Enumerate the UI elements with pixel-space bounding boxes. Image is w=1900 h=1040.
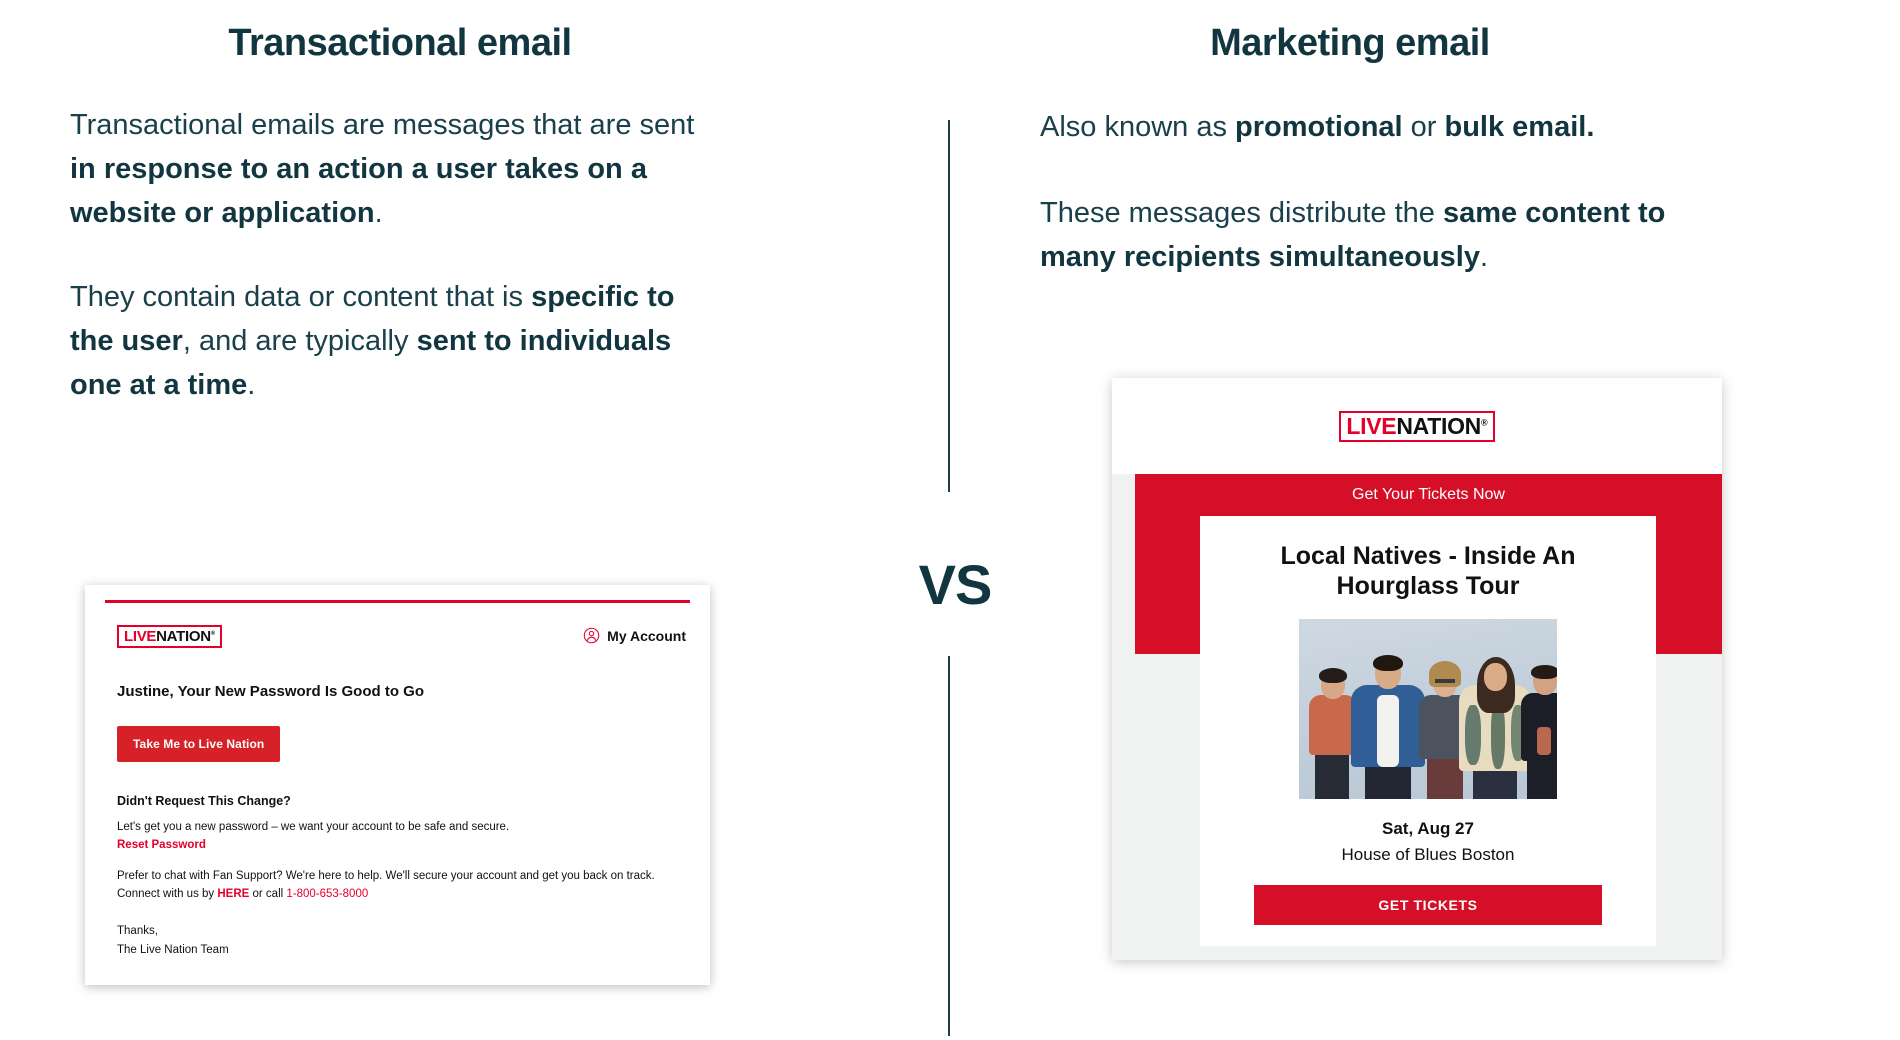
band-member-2: [1351, 647, 1425, 799]
event-title: Local Natives - Inside An Hourglass Tour: [1224, 542, 1632, 601]
left-p2-text-1: They contain data or content that is: [70, 281, 531, 313]
right-paragraph-2: These messages distribute the same conte…: [1040, 191, 1720, 279]
band-photo: [1299, 619, 1557, 799]
banner-text: Get Your Tickets Now: [1135, 486, 1722, 504]
take-me-to-live-nation-button[interactable]: Take Me to Live Nation: [117, 726, 280, 762]
email-top-rule: [105, 600, 690, 603]
person-circle-icon: [583, 627, 600, 644]
marketing-email-column: Marketing email Also known as promotiona…: [1040, 0, 1860, 279]
event-date: Sat, Aug 27: [1200, 819, 1656, 839]
my-account-label: My Account: [607, 628, 686, 644]
member-3-glasses: [1435, 679, 1455, 683]
reset-password-link[interactable]: Reset Password: [117, 839, 677, 851]
member-2-shirt: [1377, 695, 1399, 767]
member-5-legs: [1527, 755, 1557, 799]
vertical-divider-bottom: [948, 656, 950, 1036]
left-p1-bold-1: in response to an action a user takes on…: [70, 153, 647, 229]
marketing-email-header: LIVENATION®: [1112, 378, 1722, 474]
left-p1-text-1: Transactional emails are messages that a…: [70, 109, 694, 141]
vs-label: VS: [900, 552, 1010, 617]
member-3-hair: [1429, 661, 1461, 687]
logo-nation-text: NATION: [1396, 413, 1481, 439]
marketing-email-preview: LIVENATION® Get Your Tickets Now Local N…: [1112, 378, 1722, 960]
left-paragraph-1: Transactional emails are messages that a…: [70, 103, 710, 235]
right-p2-text-1: These messages distribute the: [1040, 197, 1443, 229]
signoff-line-1: Thanks,: [117, 925, 158, 937]
reset-instruction-text: Let's get you a new password – we want y…: [117, 818, 677, 837]
event-venue: House of Blues Boston: [1200, 845, 1656, 865]
member-2-hair: [1373, 655, 1403, 671]
right-paragraph-1: Also known as promotional or bulk email.: [1040, 105, 1840, 149]
signoff-line-2: The Live Nation Team: [117, 944, 229, 956]
member-5-hair: [1531, 665, 1557, 679]
support-phone-number[interactable]: 1-800-653-8000: [286, 888, 368, 900]
left-paragraph-2: They contain data or content that is spe…: [70, 275, 720, 407]
email-subject-line: Justine, Your New Password Is Good to Go: [117, 683, 677, 700]
my-account-link[interactable]: My Account: [583, 627, 686, 644]
right-p1-bold-2: bulk email.: [1445, 111, 1595, 143]
support-line-2-pre: Connect with us by: [117, 888, 217, 900]
left-p2-text-2: , and are typically: [183, 325, 417, 357]
get-tickets-button[interactable]: GET TICKETS: [1254, 885, 1602, 925]
member-5-shirt-inner: [1537, 727, 1551, 755]
vertical-divider-top: [948, 120, 950, 492]
fan-support-text: Prefer to chat with Fan Support? We're h…: [117, 867, 677, 904]
marketing-content-panel: Local Natives - Inside An Hourglass Tour: [1200, 516, 1656, 946]
right-column-heading: Marketing email: [1040, 22, 1660, 65]
right-p1-text-1: Also known as: [1040, 111, 1235, 143]
left-column-heading: Transactional email: [70, 22, 730, 65]
transactional-email-preview: LIVENATION® My Account Justine, Your New…: [85, 585, 710, 985]
band-member-5: [1521, 663, 1557, 799]
live-nation-logo: LIVENATION®: [1339, 411, 1494, 442]
member-1-torso: [1309, 695, 1357, 755]
right-p1-bold-1: promotional: [1235, 111, 1403, 143]
support-line-1: Prefer to chat with Fan Support? We're h…: [117, 870, 655, 882]
right-p2-text-2: .: [1480, 241, 1488, 273]
here-link[interactable]: HERE: [217, 888, 249, 900]
logo-live-text: LIVE: [124, 628, 156, 645]
support-line-2-mid: or call: [249, 888, 286, 900]
logo-nation-text: NATION: [156, 628, 211, 645]
member-3-legs: [1427, 753, 1463, 799]
transactional-email-column: Transactional email Transactional emails…: [70, 0, 770, 407]
left-p1-text-2: .: [375, 197, 383, 229]
member-4-pattern-1: [1465, 705, 1481, 765]
logo-trademark: ®: [1481, 417, 1488, 427]
member-1-hair: [1319, 668, 1347, 683]
logo-live-text: LIVE: [1346, 413, 1396, 439]
email-body: Justine, Your New Password Is Good to Go…: [117, 683, 677, 959]
live-nation-logo: LIVENATION®: [117, 625, 222, 648]
right-p1-text-2: or: [1403, 111, 1445, 143]
email-signoff: Thanks, The Live Nation Team: [117, 922, 677, 959]
logo-trademark: ®: [211, 631, 215, 637]
left-p2-text-3: .: [247, 369, 255, 401]
email-header: LIVENATION® My Account: [105, 625, 690, 653]
member-4-face: [1484, 663, 1507, 691]
didnt-request-heading: Didn't Request This Change?: [117, 794, 677, 808]
reset-instruction-line: Let's get you a new password – we want y…: [117, 821, 509, 833]
